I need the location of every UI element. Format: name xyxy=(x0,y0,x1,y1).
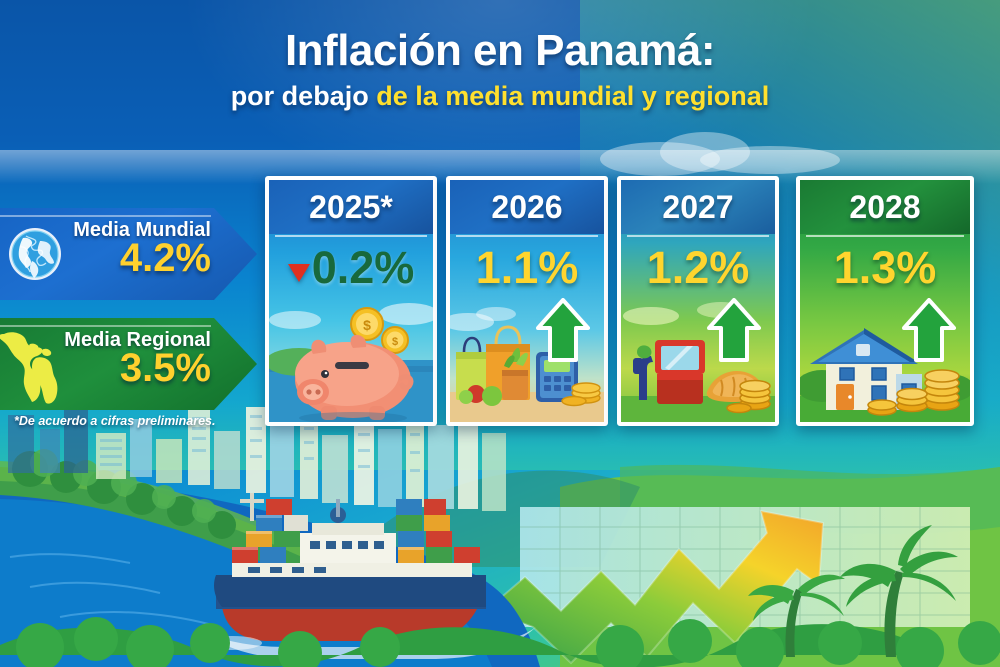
arrow-up-icon xyxy=(902,298,956,364)
card-value: 1.1% xyxy=(476,245,579,290)
card-value: 1.2% xyxy=(647,245,750,290)
year-card-2027[interactable]: 2027 1.2% xyxy=(617,176,779,426)
svg-text:$: $ xyxy=(363,317,371,333)
stat-text-group: Media Regional 3.5% xyxy=(62,326,211,404)
infographic-canvas: Inflación en Panamá: por debajo de la me… xyxy=(0,0,1000,667)
footnote-text: *De acuerdo a cifras preliminares. xyxy=(14,414,215,428)
card-value-row: 1.1% xyxy=(450,236,604,298)
year-card-2026[interactable]: 2026 1.1% xyxy=(446,176,608,426)
piggy-bank-with-coins: $ $ xyxy=(269,300,433,422)
subtitle-part-highlight: de la media mundial y regional xyxy=(376,81,769,111)
stat-panel-media-mundial: Media Mundial 4.2% xyxy=(0,208,257,300)
stat-value: 3.5% xyxy=(62,349,211,387)
title-block: Inflación en Panamá: por debajo de la me… xyxy=(0,28,1000,113)
year-card-2025[interactable]: $ $ 20 xyxy=(265,176,437,426)
page-title: Inflación en Panamá: xyxy=(0,28,1000,74)
arrow-up-icon xyxy=(707,298,761,364)
scene-illustration xyxy=(0,407,1000,667)
cloud-shape xyxy=(700,146,840,174)
card-year-label: 2026 xyxy=(450,189,604,226)
card-value-row: 1.2% xyxy=(621,236,775,298)
svg-text:$: $ xyxy=(392,336,398,348)
card-year-label: 2027 xyxy=(621,189,775,226)
stat-panel-media-regional: Media Regional 3.5% xyxy=(0,318,257,410)
stat-text-group: Media Mundial 4.2% xyxy=(62,216,211,294)
card-year-label: 2028 xyxy=(800,189,970,226)
card-value-row: 0.2% xyxy=(269,236,433,298)
globe-icon xyxy=(6,225,64,283)
page-subtitle: por debajo de la media mundial y regiona… xyxy=(0,80,1000,112)
year-card-2028[interactable]: 2028 1.3% xyxy=(796,176,974,426)
card-value: 0.2% xyxy=(312,245,415,290)
triangle-down-icon xyxy=(288,264,310,282)
stat-value: 4.2% xyxy=(62,239,211,277)
subtitle-part-white: por debajo xyxy=(231,81,377,111)
card-value: 1.3% xyxy=(834,245,937,290)
arrow-up-icon xyxy=(536,298,590,364)
card-value-row: 1.3% xyxy=(800,236,970,298)
card-year-label: 2025* xyxy=(269,189,433,226)
